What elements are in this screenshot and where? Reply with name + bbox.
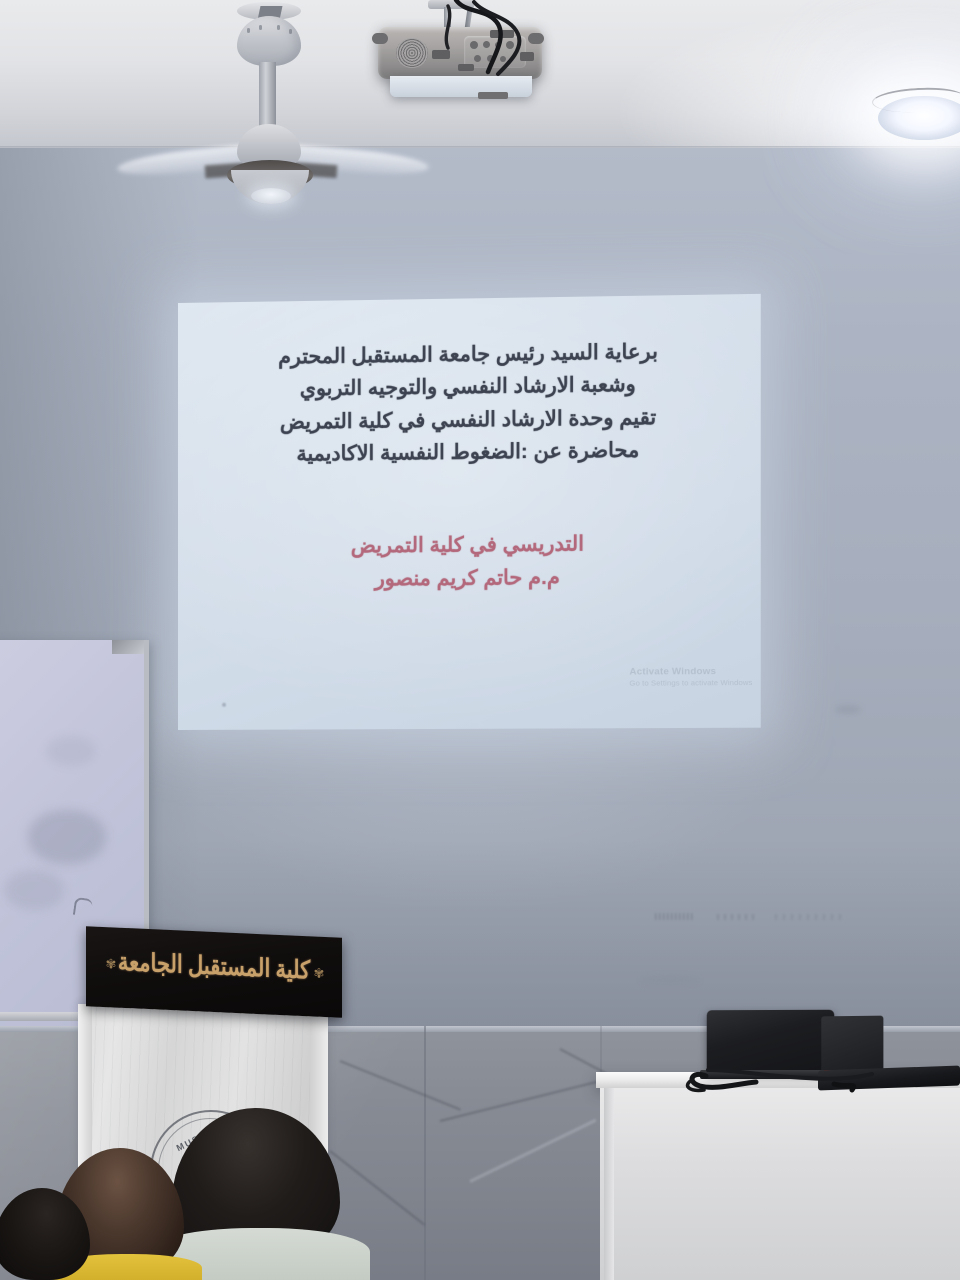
projection-screen: برعاية السيد رئيس جامعة المستقبل المحترم… bbox=[178, 294, 761, 730]
presenter-name: م.م حاتم كريم منصور bbox=[178, 559, 761, 597]
marble-seam bbox=[424, 1026, 426, 1280]
wall-faint-writing bbox=[655, 905, 855, 927]
wall-scuff bbox=[835, 705, 861, 714]
slide-content: برعاية السيد رئيس جامعة المستقبل المحترم… bbox=[178, 334, 761, 596]
presenter-role: التدريسي في كلية التمريض bbox=[178, 525, 761, 564]
podium-nameplate: ✾ ✾ كلية المستقبل الجامعة bbox=[86, 926, 342, 1018]
lecture-hall-photo: برعاية السيد رئيس جامعة المستقبل المحترم… bbox=[0, 0, 960, 1280]
fan-downrod bbox=[259, 62, 276, 130]
projector-cables bbox=[370, 0, 550, 110]
podium-sign-text: كلية المستقبل الجامعة bbox=[86, 946, 342, 987]
screen-speck bbox=[222, 703, 226, 707]
wall-scuff bbox=[640, 975, 700, 985]
desk-front-panel bbox=[600, 1088, 960, 1280]
desk-leg-left bbox=[604, 1088, 614, 1280]
whiteboard-corner-bracket bbox=[112, 640, 144, 654]
fan-light bbox=[251, 188, 291, 204]
ceiling-fan bbox=[175, 0, 365, 215]
windows-activation-watermark: Activate Windows Go to Settings to activ… bbox=[629, 666, 752, 688]
fan-cup bbox=[237, 16, 301, 66]
ceiling-projector bbox=[370, 0, 550, 110]
watermark-line-1: Activate Windows bbox=[629, 666, 752, 678]
whiteboard-marker-stroke bbox=[73, 897, 93, 917]
watermark-line-2: Go to Settings to activate Windows bbox=[629, 678, 752, 688]
desk-cables bbox=[596, 1040, 960, 1110]
slide-spacer bbox=[178, 466, 761, 530]
